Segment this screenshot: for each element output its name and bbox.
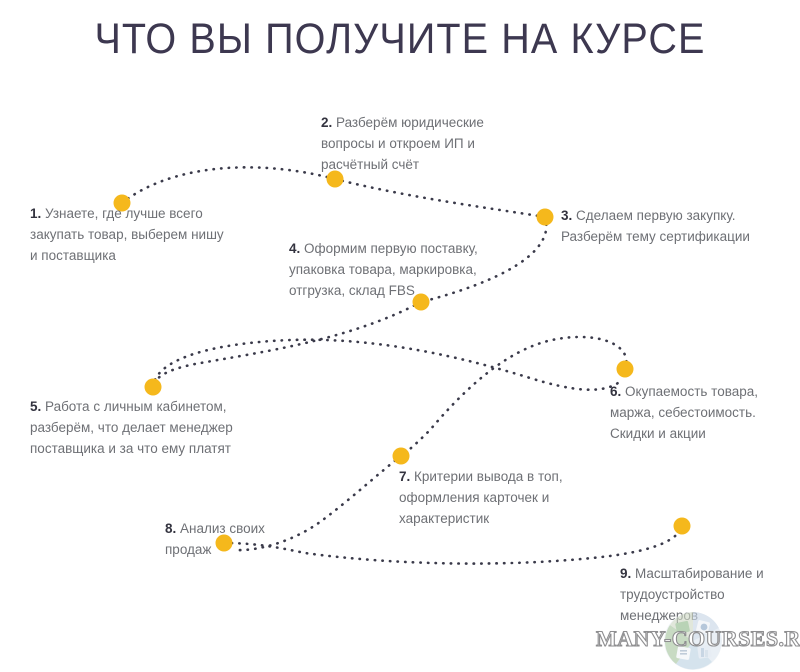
step-item-4: 4. Оформим первую поставку, упаковка тов…: [289, 238, 479, 301]
step-item-7: 7. Критерии вывода в топ, оформления кар…: [399, 466, 589, 529]
path-segment-8-9: [224, 526, 682, 564]
path-segment-5-6: [153, 340, 618, 390]
step-item-1: 1. Узнаете, где лучше всего закупать тов…: [30, 203, 230, 266]
page-title: ЧТО ВЫ ПОЛУЧИТЕ НА КУРСЕ: [32, 14, 768, 64]
step-number-9: 9.: [620, 566, 635, 581]
step-number-3: 3.: [561, 208, 576, 223]
step-dot-9: [674, 518, 691, 535]
step-item-5: 5. Работа с личным кабинетом, разберём, …: [30, 396, 262, 459]
step-text-6: Окупаемость товара, маржа, себестоимость…: [610, 384, 758, 441]
infographic-page: ЧТО ВЫ ПОЛУЧИТЕ НА КУРСЕ 1. Узнаете, где…: [0, 0, 800, 672]
watermark: MANY-COURSES.RU: [596, 612, 796, 670]
path-segment-2-3: [335, 179, 545, 217]
step-number-1: 1.: [30, 206, 45, 221]
step-number-7: 7.: [399, 469, 414, 484]
step-text-4: Оформим первую поставку, упаковка товара…: [289, 241, 478, 298]
step-text-2: Разберём юридические вопросы и откроем И…: [321, 115, 484, 172]
step-dot-6: [617, 361, 634, 378]
step-text-3: Сделаем первую закупку. Разберём тему се…: [561, 208, 750, 244]
step-number-8: 8.: [165, 521, 180, 536]
step-dot-5: [145, 379, 162, 396]
step-item-6: 6. Окупаемость товара, маржа, себестоимо…: [610, 381, 785, 444]
step-item-2: 2. Разберём юридические вопросы и открое…: [321, 112, 511, 175]
watermark-text: MANY-COURSES.RU: [596, 626, 796, 652]
step-dot-3: [537, 209, 554, 226]
step-text-8: Анализ своих продаж: [165, 521, 265, 557]
path-segment-4-5: [153, 302, 421, 387]
step-text-7: Критерии вывода в топ, оформления карточ…: [399, 469, 563, 526]
step-number-6: 6.: [610, 384, 625, 399]
path-segment-1-2: [122, 167, 335, 203]
step-dot-7: [393, 448, 410, 465]
step-item-3: 3. Сделаем первую закупку. Разберём тему…: [561, 205, 776, 247]
step-text-5: Работа с личным кабинетом, разберём, что…: [30, 399, 233, 456]
step-number-2: 2.: [321, 115, 336, 130]
step-number-5: 5.: [30, 399, 45, 414]
path-segment-6-7: [401, 337, 626, 456]
step-text-1: Узнаете, где лучше всего закупать товар,…: [30, 206, 224, 263]
step-number-4: 4.: [289, 241, 304, 256]
step-item-8: 8. Анализ своих продаж: [165, 518, 280, 560]
